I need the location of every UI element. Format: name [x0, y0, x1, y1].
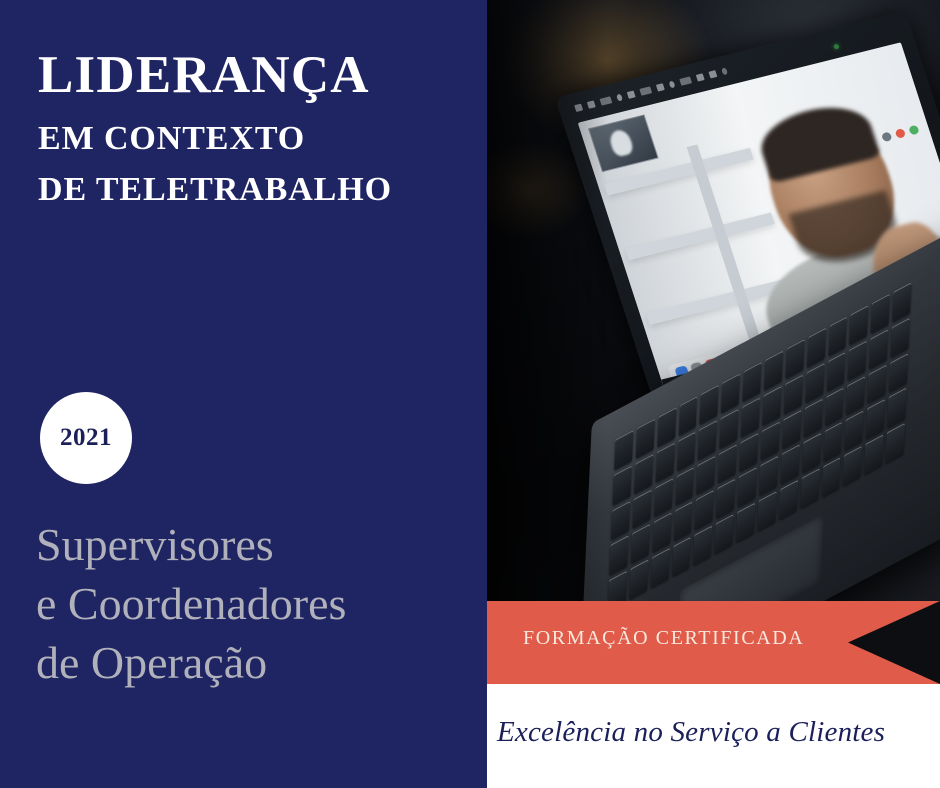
- keyboard-key: [889, 353, 908, 393]
- keyboard-key: [784, 374, 803, 414]
- keyboard-key: [821, 457, 840, 497]
- year-badge-label: 2021: [60, 424, 112, 452]
- keyboard-key: [650, 548, 669, 588]
- keyboard-key: [678, 396, 697, 436]
- keyboard-key: [779, 480, 798, 520]
- menubar-item: [668, 80, 675, 88]
- headline-line-2: EM CONTEXTO: [38, 121, 458, 158]
- keyboard-key: [805, 363, 824, 403]
- keyboard-key: [654, 478, 673, 518]
- keyboard-key: [739, 432, 758, 472]
- keyboard-key: [762, 386, 781, 426]
- keyboard-key: [635, 419, 654, 459]
- audience-line-2: e Coordenadores: [36, 575, 486, 634]
- keyboard-key: [632, 489, 651, 529]
- keyboard-key: [652, 513, 671, 553]
- keyboard-key: [719, 408, 738, 448]
- menubar-item: [616, 93, 623, 101]
- keyboard-key: [823, 422, 842, 462]
- year-badge: 2021: [40, 392, 132, 484]
- keyboard-key: [844, 411, 863, 451]
- menubar-item: [656, 83, 665, 91]
- ribbon-label: FORMAÇÃO CERTIFICADA: [523, 627, 804, 650]
- keyboard-key: [886, 423, 905, 463]
- keyboard-key: [698, 420, 717, 460]
- webcam-indicator-icon: [833, 44, 839, 50]
- keyboard-key: [848, 340, 867, 380]
- keyboard-key: [700, 385, 719, 425]
- keyboard-key: [675, 466, 694, 506]
- keyboard-key: [800, 469, 819, 509]
- menubar-item: [708, 70, 717, 78]
- keyboard-key: [802, 433, 821, 473]
- keyboard-key: [864, 434, 883, 474]
- menubar-item: [639, 86, 652, 95]
- headline-line-3: DE TELETRABALHO: [38, 172, 458, 209]
- keyboard-key: [887, 388, 906, 428]
- page-title: LIDERANÇA EM CONTEXTO DE TELETRABALHO: [38, 48, 458, 223]
- keyboard-key: [672, 537, 691, 577]
- keyboard-key: [634, 454, 653, 494]
- keyboard-key: [718, 444, 737, 484]
- tagline-text: Excelência no Serviço a Clientes: [497, 716, 937, 749]
- keyboard-key: [655, 443, 674, 483]
- keyboard-key: [677, 431, 696, 471]
- keyboard-key: [741, 397, 760, 437]
- keyboard-key: [629, 560, 648, 600]
- keyboard-key: [807, 328, 826, 368]
- headline-line-1: LIDERANÇA: [38, 48, 458, 103]
- keyboard-key: [846, 375, 865, 415]
- navy-panel: LIDERANÇA EM CONTEXTO DE TELETRABALHO 20…: [0, 0, 487, 788]
- keyboard-key: [785, 339, 804, 379]
- keyboard-key: [631, 524, 650, 564]
- keyboard-key: [868, 364, 887, 404]
- keyboard-key: [780, 445, 799, 485]
- keyboard-key: [742, 362, 761, 402]
- keyboard-key: [715, 514, 734, 554]
- keyboard-key: [609, 536, 628, 576]
- keyboard-key: [866, 399, 885, 439]
- keyboard-key: [843, 446, 862, 486]
- keyboard-key: [759, 456, 778, 496]
- keyboard-key: [803, 398, 822, 438]
- menubar-item: [679, 76, 692, 85]
- keyboard-key: [612, 465, 631, 505]
- keyboard-key: [673, 502, 692, 542]
- keyboard-key: [849, 305, 868, 345]
- keyboard-key: [869, 329, 888, 369]
- keyboard-key: [738, 467, 757, 507]
- keyboard-key: [721, 373, 740, 413]
- keyboard-key: [657, 407, 676, 447]
- keyboard-key: [825, 387, 844, 427]
- laptop-photo: [487, 0, 940, 684]
- keyboard-key: [828, 316, 847, 356]
- keyboard-key: [826, 352, 845, 392]
- keyboard-key: [693, 525, 712, 565]
- keyboard-key: [782, 410, 801, 450]
- keyboard-key: [614, 430, 633, 470]
- keyboard-key: [696, 455, 715, 495]
- keyboard-key: [892, 282, 911, 322]
- audience-line-1: Supervisores: [36, 516, 486, 575]
- keyboard-key: [891, 317, 910, 357]
- keyboard-key: [761, 421, 780, 461]
- menubar-item: [696, 73, 705, 81]
- audience-text: Supervisores e Coordenadores de Operação: [36, 516, 486, 693]
- keyboard-key: [736, 503, 755, 543]
- keyboard-key: [695, 490, 714, 530]
- photo-vignette: [487, 0, 607, 684]
- audience-line-3: de Operação: [36, 634, 486, 693]
- keyboard-key: [611, 501, 630, 541]
- keyboard-key: [716, 479, 735, 519]
- menubar-item: [627, 90, 636, 98]
- menubar-item: [721, 67, 728, 75]
- promotional-poster: LIDERANÇA EM CONTEXTO DE TELETRABALHO 20…: [0, 0, 940, 788]
- keyboard-key: [871, 294, 890, 334]
- keyboard-key: [757, 491, 776, 531]
- keyboard-key: [764, 350, 783, 390]
